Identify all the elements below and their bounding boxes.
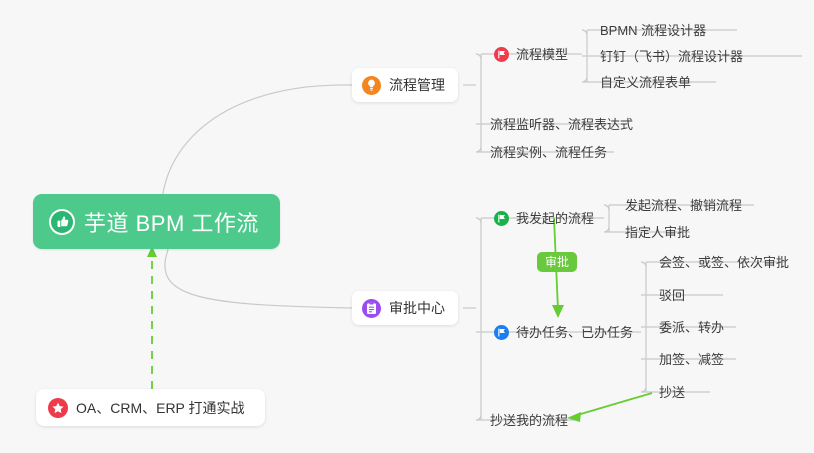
- root-label: 芋道 BPM 工作流: [84, 206, 259, 238]
- leaf-label: 抄送: [659, 386, 685, 399]
- link-pm-corner-top: [476, 54, 481, 59]
- leaf-label: 流程实例、流程任务: [490, 146, 607, 159]
- flag-icon: [494, 211, 509, 226]
- leaf-label: 钉钉（飞书）流程设计器: [600, 50, 743, 63]
- link-mine-corner-top: [604, 205, 609, 210]
- leaf-label: BPMN 流程设计器: [600, 24, 706, 37]
- callout-label: OA、CRM、ERP 打通实战: [76, 398, 245, 418]
- leaf-add-remove-sign[interactable]: 加签、减签: [659, 347, 724, 371]
- callout-node-integration[interactable]: OA、CRM、ERP 打通实战: [36, 389, 265, 426]
- leaf-label: 指定人审批: [625, 226, 690, 239]
- link-todo-corner-top: [641, 262, 646, 267]
- flag-icon: [494, 47, 509, 62]
- root-node[interactable]: 芋道 BPM 工作流: [33, 194, 280, 249]
- leaf-my-initiated[interactable]: 我发起的流程: [494, 206, 594, 230]
- link-pmodel-corner-bottom: [582, 77, 587, 82]
- leaf-label: 委派、转办: [659, 321, 724, 334]
- leaf-label: 我发起的流程: [516, 212, 594, 225]
- thumbs-up-icon: [49, 209, 75, 235]
- branch-node-process-management[interactable]: 流程管理: [352, 68, 458, 102]
- leaf-delegate-transfer[interactable]: 委派、转办: [659, 315, 724, 339]
- link-mine-corner-bottom: [604, 227, 609, 232]
- leaf-process-listener[interactable]: 流程监听器、流程表达式: [490, 112, 633, 136]
- leaf-dingtalk-designer[interactable]: 钉钉（飞书）流程设计器: [600, 44, 743, 68]
- arrow-cc-to-ccmine: [574, 393, 652, 416]
- leaf-bpmn-designer[interactable]: BPMN 流程设计器: [600, 18, 706, 42]
- flag-icon: [494, 325, 509, 340]
- leaf-label: 流程监听器、流程表达式: [490, 118, 633, 131]
- leaf-start-cancel-process[interactable]: 发起流程、撤销流程: [625, 193, 742, 217]
- leaf-reject[interactable]: 驳回: [659, 283, 685, 307]
- arrowhead-mine-to-todo: [552, 305, 564, 318]
- leaf-cc-to-me[interactable]: 抄送我的流程: [490, 408, 568, 432]
- link-pmodel-corner-top: [582, 30, 587, 35]
- lightbulb-icon: [362, 76, 381, 95]
- link-ac-corner-top: [476, 218, 481, 223]
- link-pm-corner-bottom: [476, 147, 481, 152]
- star-icon: [48, 398, 68, 418]
- annotation-tag-approval: 审批: [537, 252, 577, 272]
- link-todo-corner-bottom: [641, 387, 646, 392]
- link-root-to-approval-center: [165, 250, 352, 308]
- leaf-label: 加签、减签: [659, 353, 724, 366]
- leaf-process-instance[interactable]: 流程实例、流程任务: [490, 140, 607, 164]
- leaf-label: 会签、或签、依次审批: [659, 256, 789, 269]
- branch-label: 审批中心: [389, 298, 445, 318]
- leaf-label: 抄送我的流程: [490, 414, 568, 427]
- mindmap-canvas: 芋道 BPM 工作流 流程管理 流程模型 流程监听器、流程表达式 流程实例、流程…: [0, 0, 814, 453]
- leaf-parallel-sequential-approval[interactable]: 会签、或签、依次审批: [659, 250, 789, 274]
- leaf-label: 待办任务、已办任务: [516, 326, 633, 339]
- arrowhead-cc-to-ccmine: [567, 412, 581, 422]
- leaf-carbon-copy[interactable]: 抄送: [659, 380, 685, 404]
- annotation-tag-label: 审批: [545, 256, 569, 268]
- branch-node-approval-center[interactable]: 审批中心: [352, 291, 458, 325]
- branch-label: 流程管理: [389, 75, 445, 95]
- leaf-label: 发起流程、撤销流程: [625, 199, 742, 212]
- leaf-todo-done-tasks[interactable]: 待办任务、已办任务: [494, 320, 633, 344]
- leaf-assignee-approval[interactable]: 指定人审批: [625, 220, 690, 244]
- leaf-label: 自定义流程表单: [600, 76, 691, 89]
- clipboard-icon: [362, 299, 381, 318]
- leaf-custom-form[interactable]: 自定义流程表单: [600, 70, 691, 94]
- leaf-label: 流程模型: [516, 48, 568, 61]
- leaf-process-model[interactable]: 流程模型: [494, 42, 568, 66]
- link-ac-corner-bottom: [476, 415, 481, 420]
- leaf-label: 驳回: [659, 289, 685, 302]
